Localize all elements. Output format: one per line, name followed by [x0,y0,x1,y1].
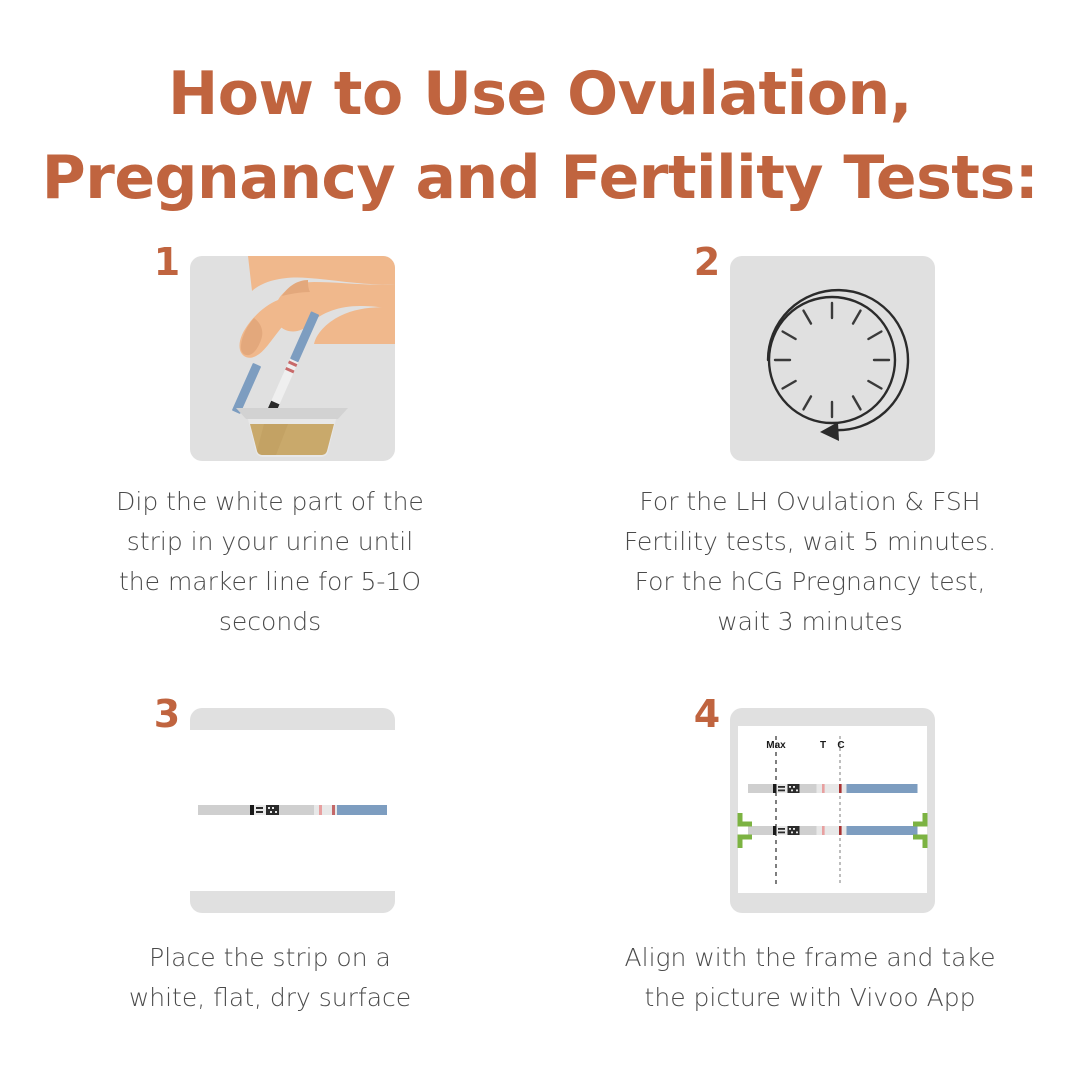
step-4-caption-line-2: the picture with Vivoo App [595,978,1025,1018]
step-3-caption-line-2: white, flat, dry surface [55,978,485,1018]
step-1-caption-line-3: the marker line for 5-1O [55,562,485,602]
step-2-caption: For the LH Ovulation & FSH Fertility tes… [595,482,1025,642]
test-strip-on-flat-white-surface-icon [190,708,395,913]
step-3-caption: Place the strip on a white, flat, dry su… [55,938,485,1018]
align-strip-with-camera-frame-icon: Max T C [730,708,935,913]
step-1-caption-line-2: strip in your urine until [55,522,485,562]
step-1-caption-line-1: Dip the white part of the [55,482,485,522]
step-4-head: 4 Max T C [685,700,935,912]
framed-test-strip [748,826,918,835]
white-surface-shape [738,726,927,893]
step-2-illustration-panel [730,256,935,461]
circular-arrow-head [820,422,839,441]
step-4: 4 Max T C [540,700,1080,1018]
reference-test-strip [748,784,918,793]
step-2-caption-line-4: wait 3 minutes [595,602,1025,642]
steps-row-1: 1 [0,248,1080,642]
page-title-line-1: How to Use Ovulation, [0,52,1080,136]
step-1-caption: Dip the white part of the strip in your … [55,482,485,642]
clock-timer-circular-arrow-icon [730,256,935,461]
step-4-number: 4 [685,692,729,736]
step-1-illustration-panel [190,256,395,461]
step-1-head: 1 [145,248,395,460]
infographic-page: How to Use Ovulation, Pregnancy and Fert… [0,0,1080,1080]
steps-row-2: 3 [0,700,1080,1018]
label-max: Max [766,740,786,751]
step-4-caption-line-1: Align with the frame and take [595,938,1025,978]
steps-grid: 1 [0,248,1080,1018]
hand-shape [239,256,395,358]
step-3-head: 3 [145,700,395,912]
step-3-caption-line-1: Place the strip on a [55,938,485,978]
step-1: 1 [0,248,540,642]
label-c: C [837,740,844,751]
step-4-illustration-panel: Max T C [730,708,935,913]
step-1-number: 1 [145,240,189,284]
step-3-number: 3 [145,692,189,736]
step-2-caption-line-1: For the LH Ovulation & FSH [595,482,1025,522]
step-1-caption-line-4: seconds [55,602,485,642]
page-title-line-2: Pregnancy and Fertility Tests: [0,136,1080,220]
clock-tick-marks [775,303,889,417]
urine-cup-shape [236,408,348,457]
step-2-number: 2 [685,240,729,284]
test-strip-horizontal [198,805,387,815]
step-3-illustration-panel [190,708,395,913]
hand-dipping-strip-in-cup-icon [190,256,395,461]
step-4-caption: Align with the frame and take the pictur… [595,938,1025,1018]
page-title: How to Use Ovulation, Pregnancy and Fert… [0,52,1080,220]
step-2: 2 [540,248,1080,642]
step-2-head: 2 [685,248,935,460]
step-2-caption-line-2: Fertility tests, wait 5 minutes. [595,522,1025,562]
step-3: 3 [0,700,540,1018]
label-t: T [820,740,826,751]
step-2-caption-line-3: For the hCG Pregnancy test, [595,562,1025,602]
